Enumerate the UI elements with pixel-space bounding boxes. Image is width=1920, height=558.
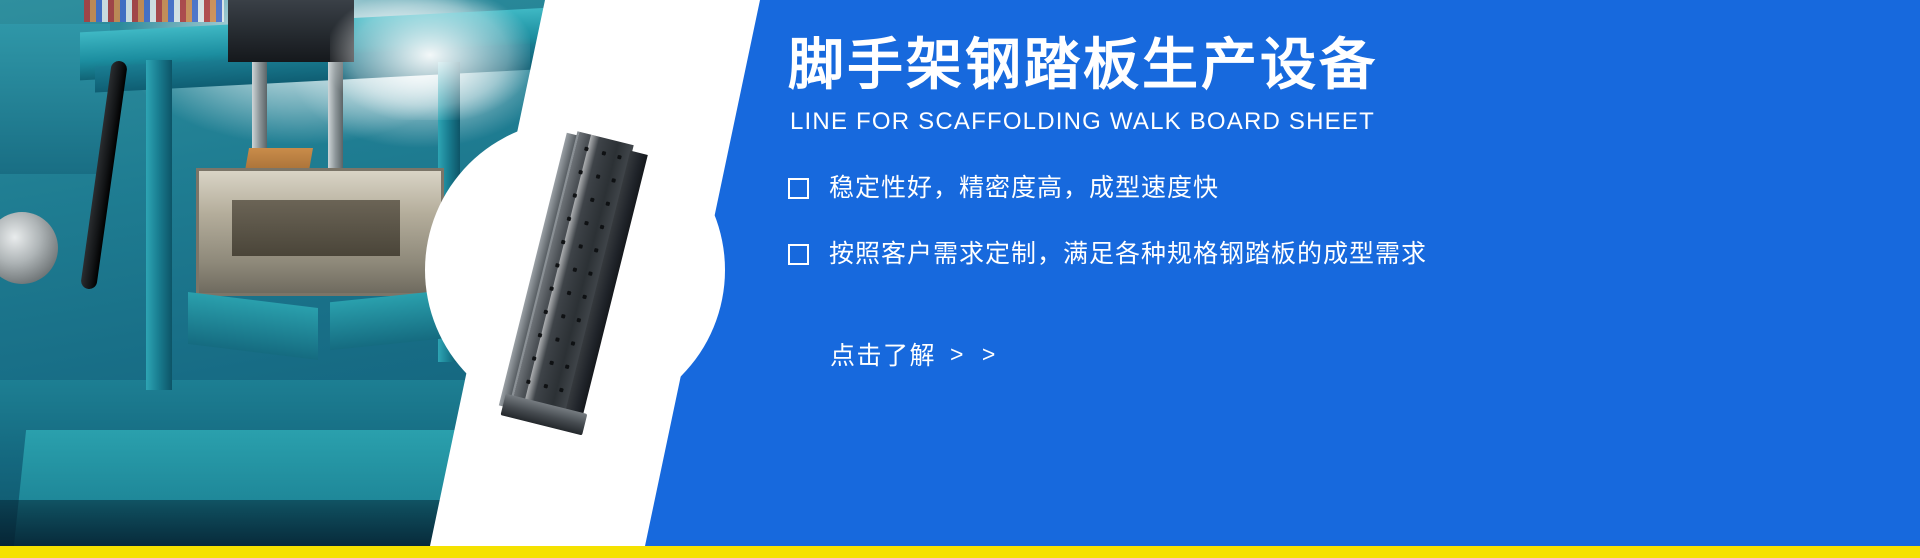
page-title: 脚手架钢踏板生产设备 <box>788 34 1378 96</box>
light-glare <box>330 0 530 120</box>
product-image <box>470 135 700 425</box>
learn-more-label: 点击了解 <box>830 336 936 372</box>
feature-bullet-1: 稳定性好，精密度高，成型速度快 <box>788 172 1219 204</box>
machine-column-left <box>146 60 172 390</box>
banner-text-block: 脚手架钢踏板生产设备 LINE FOR SCAFFOLDING WALK BOA… <box>788 0 1868 546</box>
feature-bullet-2: 按照客户需求定制，满足各种规格钢踏板的成型需求 <box>788 238 1427 270</box>
square-outline-icon <box>788 178 809 199</box>
accent-strip <box>0 546 1920 558</box>
page-subtitle: LINE FOR SCAFFOLDING WALK BOARD SHEET <box>790 107 1375 137</box>
square-outline-icon <box>788 244 809 265</box>
promo-banner: 脚手架钢踏板生产设备 LINE FOR SCAFFOLDING WALK BOA… <box>0 0 1920 558</box>
feature-bullet-2-label: 按照客户需求定制，满足各种规格钢踏板的成型需求 <box>829 238 1427 270</box>
chevron-right-icon: > > <box>950 341 1001 368</box>
feature-bullet-1-label: 稳定性好，精密度高，成型速度快 <box>829 172 1219 204</box>
machine-wiring <box>84 0 224 22</box>
machine-die-cavity <box>232 200 400 256</box>
learn-more-link[interactable]: 点击了解 > > <box>830 336 1001 372</box>
steel-walk-board <box>499 129 651 426</box>
